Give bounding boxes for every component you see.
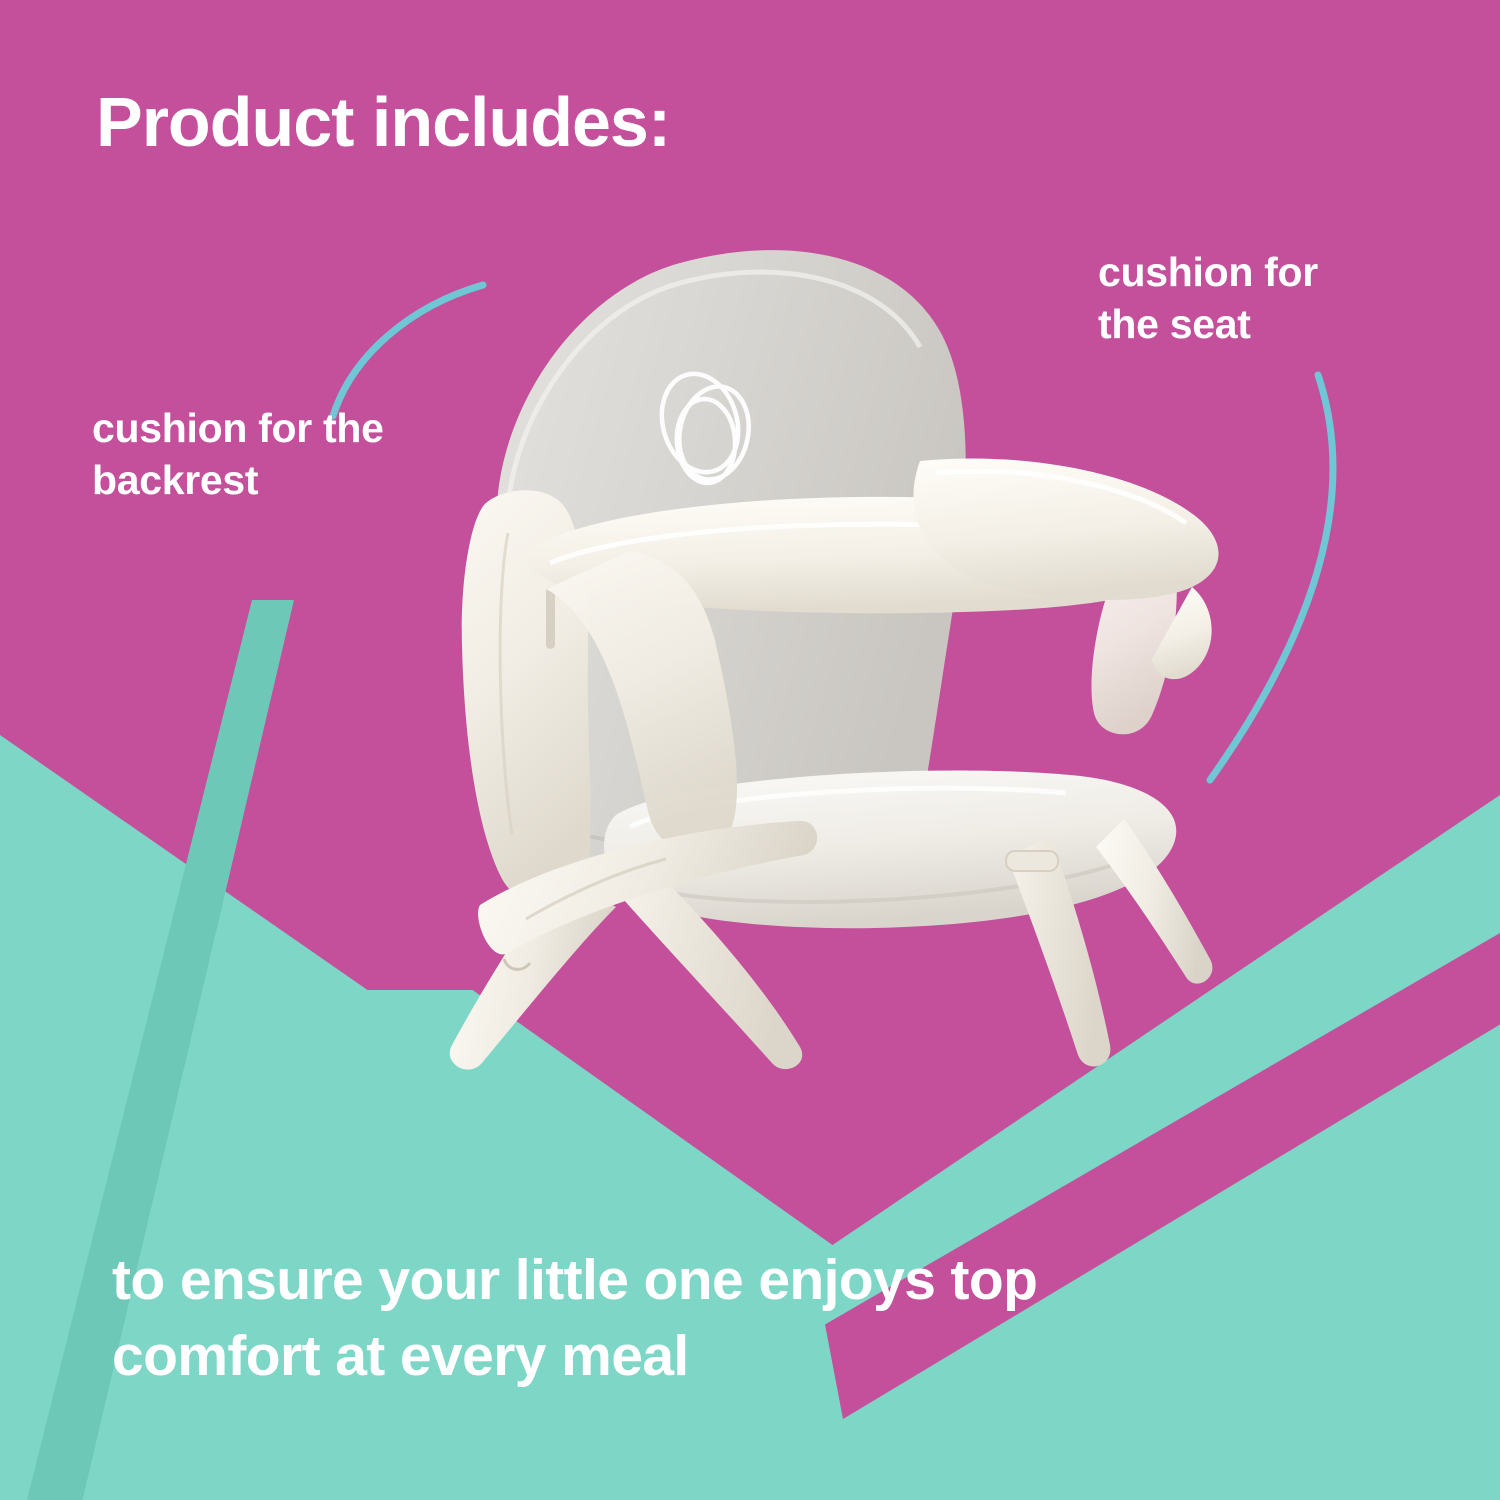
- callout-seat: cushion for the seat: [1098, 246, 1428, 351]
- bottom-caption-line-1: to ensure your little one enjoys top: [112, 1243, 1342, 1319]
- tray: [914, 458, 1219, 679]
- bottom-caption: to ensure your little one enjoys top com…: [112, 1243, 1342, 1395]
- callout-backrest-line-2: backrest: [92, 454, 512, 506]
- page-title: Product includes:: [96, 86, 670, 160]
- callout-backrest: cushion for the backrest: [92, 402, 512, 507]
- callout-seat-line-1: cushion for: [1098, 246, 1428, 298]
- promo-poster: Product includes: cushion for the backre…: [0, 0, 1500, 1500]
- callout-backrest-line-1: cushion for the: [92, 402, 512, 454]
- callout-seat-line-2: the seat: [1098, 298, 1428, 350]
- bottom-caption-line-2: comfort at every meal: [112, 1319, 1342, 1395]
